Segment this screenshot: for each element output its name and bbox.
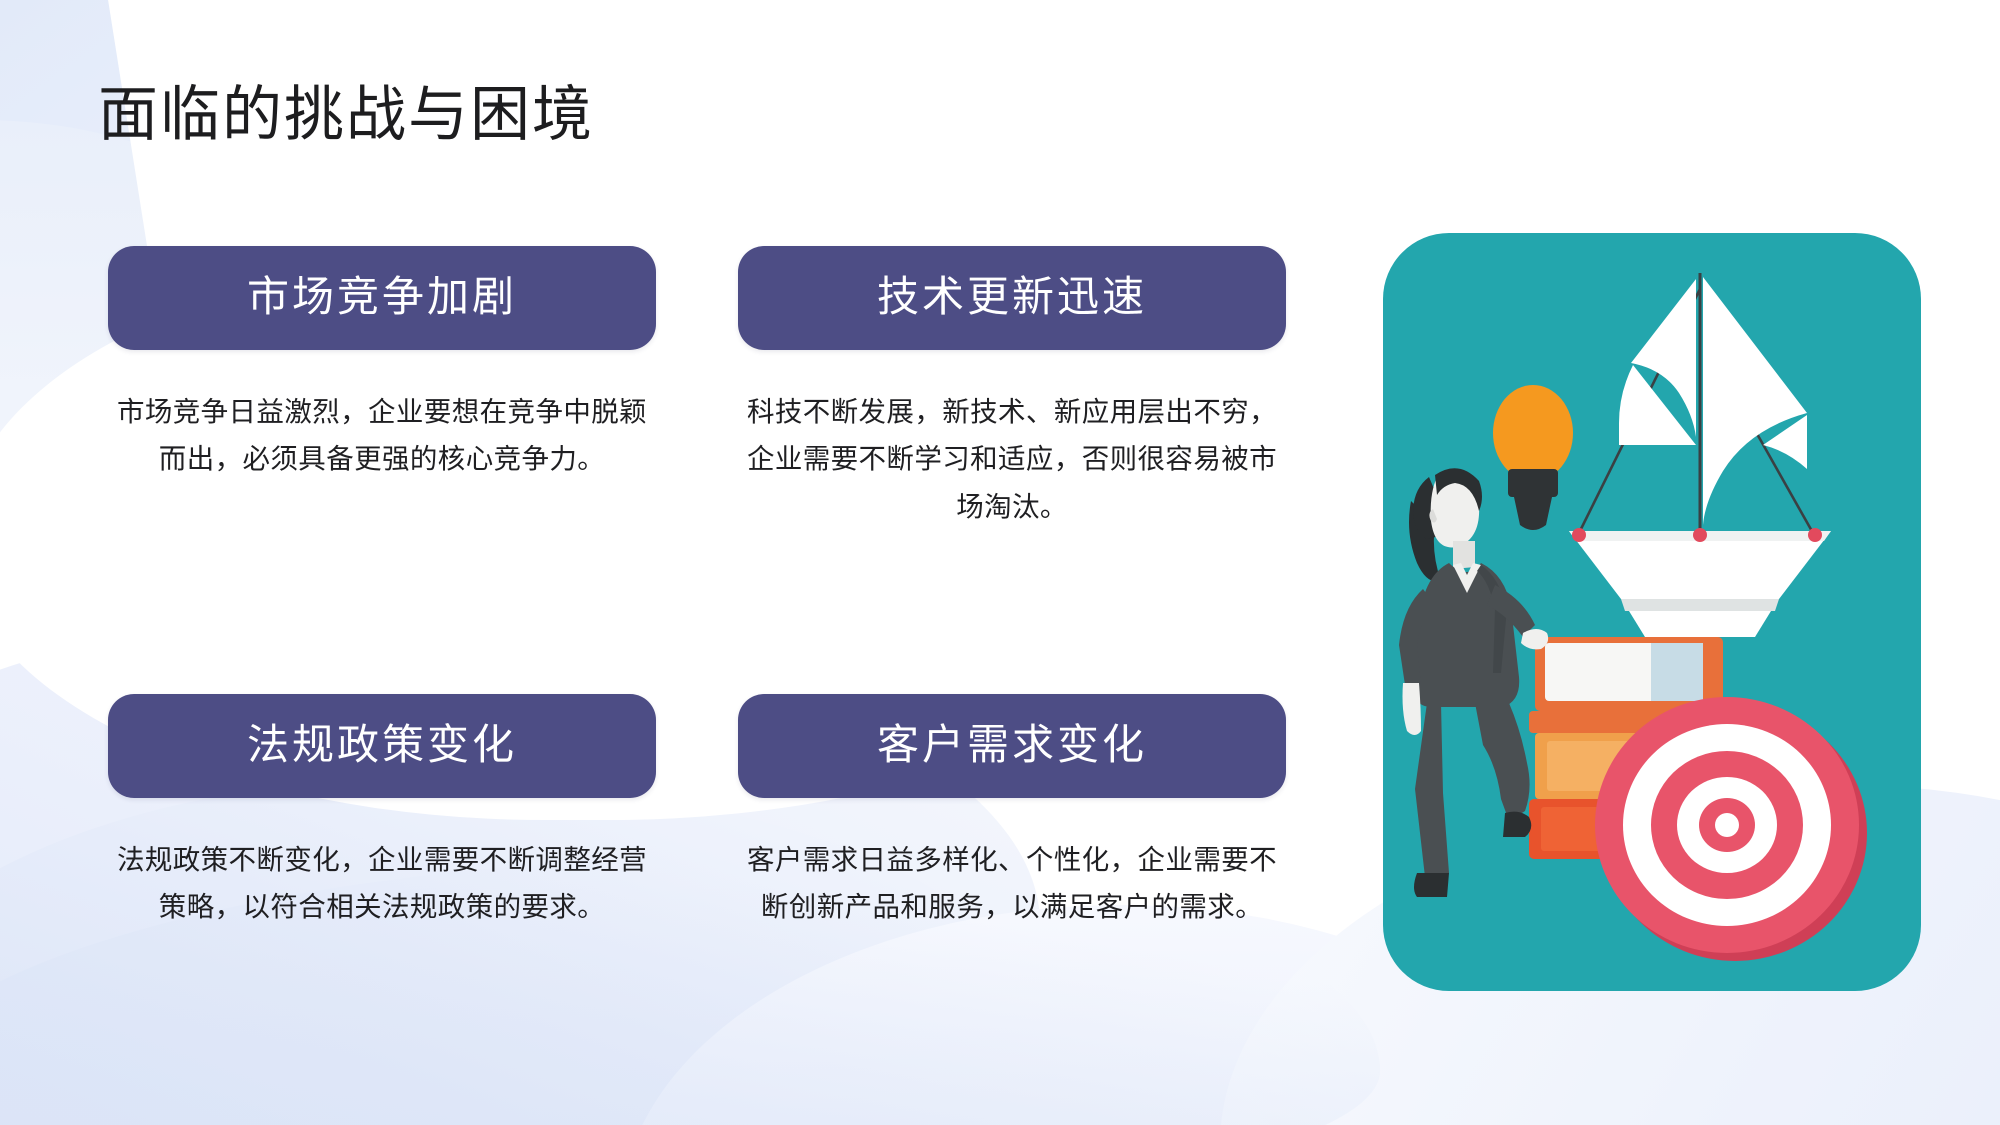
page-title: 面临的挑战与困境 — [98, 82, 594, 148]
card-header-banner[interactable]: 技术更新迅速 — [738, 246, 1286, 350]
business-goal-illustration — [1383, 233, 1921, 991]
challenge-card-market-competition[interactable]: 市场竞争加剧 市场竞争日益激烈，企业要想在竞争中脱颖而出，必须具备更强的核心竞争… — [108, 246, 656, 483]
challenge-card-technology-update[interactable]: 技术更新迅速 科技不断发展，新技术、新应用层出不穷，企业需要不断学习和适应，否则… — [738, 246, 1286, 530]
card-header-banner[interactable]: 市场竞争加剧 — [108, 246, 656, 350]
target-bullseye-icon — [1595, 697, 1867, 961]
card-body-text: 市场竞争日益激烈，企业要想在竞争中脱颖而出，必须具备更强的核心竞争力。 — [108, 388, 656, 483]
card-body-text: 科技不断发展，新技术、新应用层出不穷，企业需要不断学习和适应，否则很容易被市场淘… — [738, 388, 1286, 530]
card-heading-label: 法规政策变化 — [247, 725, 517, 767]
card-body-text: 客户需求日益多样化、个性化，企业需要不断创新产品和服务，以满足客户的需求。 — [738, 836, 1286, 931]
slide-root: 面临的挑战与困境 市场竞争加剧 市场竞争日益激烈，企业要想在竞争中脱颖而出，必须… — [0, 0, 2000, 1125]
challenge-card-policy-change[interactable]: 法规政策变化 法规政策不断变化，企业需要不断调整经营策略，以符合相关法规政策的要… — [108, 694, 656, 931]
sailboat-icon — [1569, 273, 1831, 637]
businesswoman-figure — [1399, 468, 1548, 897]
card-heading-label: 客户需求变化 — [877, 725, 1147, 767]
card-heading-label: 市场竞争加剧 — [247, 277, 517, 319]
card-heading-label: 技术更新迅速 — [877, 277, 1147, 319]
challenge-card-customer-demand[interactable]: 客户需求变化 客户需求日益多样化、个性化，企业需要不断创新产品和服务，以满足客户… — [738, 694, 1286, 931]
illustration-svg — [1383, 233, 1921, 991]
card-header-banner[interactable]: 客户需求变化 — [738, 694, 1286, 798]
card-body-text: 法规政策不断变化，企业需要不断调整经营策略，以符合相关法规政策的要求。 — [108, 836, 656, 931]
light-bulb-icon — [1493, 385, 1573, 530]
card-header-banner[interactable]: 法规政策变化 — [108, 694, 656, 798]
